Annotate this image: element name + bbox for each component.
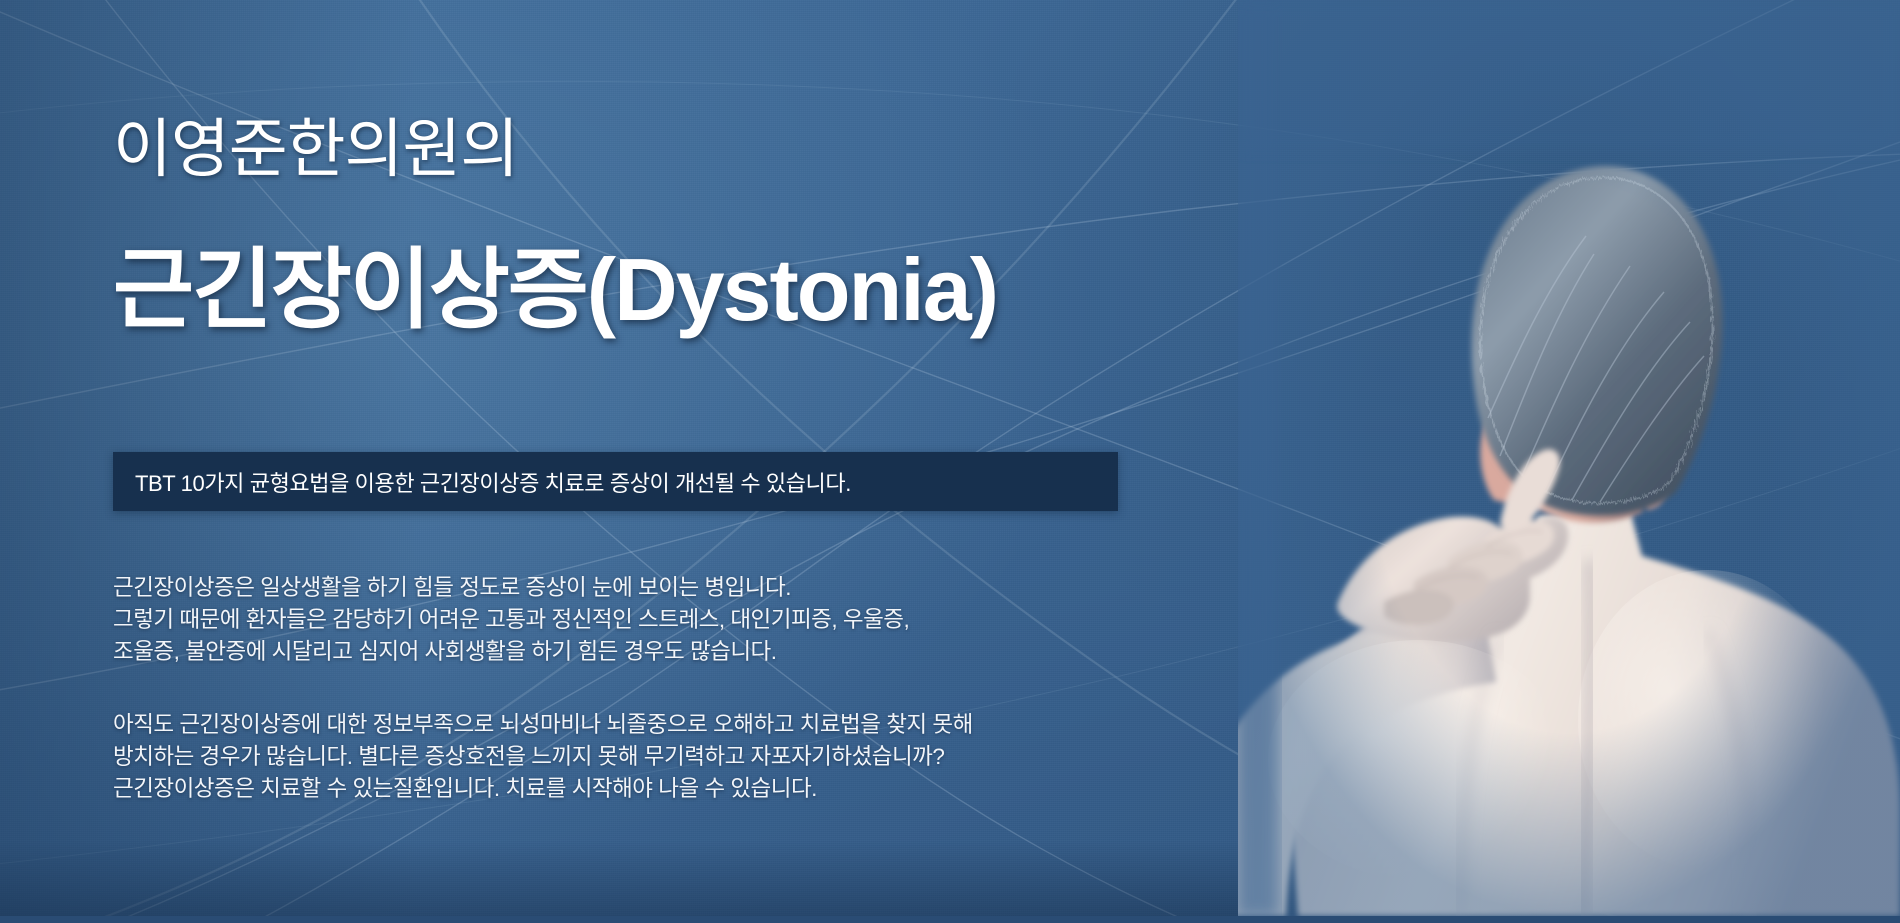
paragraph-line: 근긴장이상증은 치료할 수 있는질환입니다. 치료를 시작해야 나을 수 있습니… [113,773,973,805]
clinic-name: 이영준한의원의 [113,112,518,188]
highlight-banner: TBT 10가지 균형요법을 이용한 근긴장이상증 치료로 증상이 개선될 수 … [113,452,1118,511]
dystonia-hero-banner: 이영준한의원의 근긴장이상증(Dystonia) TBT 10가지 균형요법을 … [0,0,1900,923]
paragraph-line: 그렇기 때문에 환자들은 감당하기 어려운 고통과 정신적인 스트레스, 대인기… [113,604,909,636]
bottom-strip [0,916,1900,923]
description-paragraph-1: 근긴장이상증은 일상생활을 하기 힘들 정도로 증상이 눈에 보이는 병입니다.… [113,572,909,668]
man-back-shoulder-pain-photo [1238,0,1900,916]
page-title: 근긴장이상증(Dystonia) [113,240,997,340]
description-paragraph-2: 아직도 근긴장이상증에 대한 정보부족으로 뇌성마비나 뇌졸중으로 오해하고 치… [113,709,973,805]
paragraph-line: 근긴장이상증은 일상생활을 하기 힘들 정도로 증상이 눈에 보이는 병입니다. [113,572,909,604]
paragraph-line: 아직도 근긴장이상증에 대한 정보부족으로 뇌성마비나 뇌졸중으로 오해하고 치… [113,709,973,741]
hero-text-column: 이영준한의원의 근긴장이상증(Dystonia) TBT 10가지 균형요법을 … [113,0,1173,923]
paragraph-line: 조울증, 불안증에 시달리고 심지어 사회생활을 하기 힘든 경우도 많습니다. [113,636,909,668]
highlight-banner-text: TBT 10가지 균형요법을 이용한 근긴장이상증 치료로 증상이 개선될 수 … [113,466,851,498]
paragraph-line: 방치하는 경우가 많습니다. 별다른 증상호전을 느끼지 못해 무기력하고 자포… [113,741,973,773]
